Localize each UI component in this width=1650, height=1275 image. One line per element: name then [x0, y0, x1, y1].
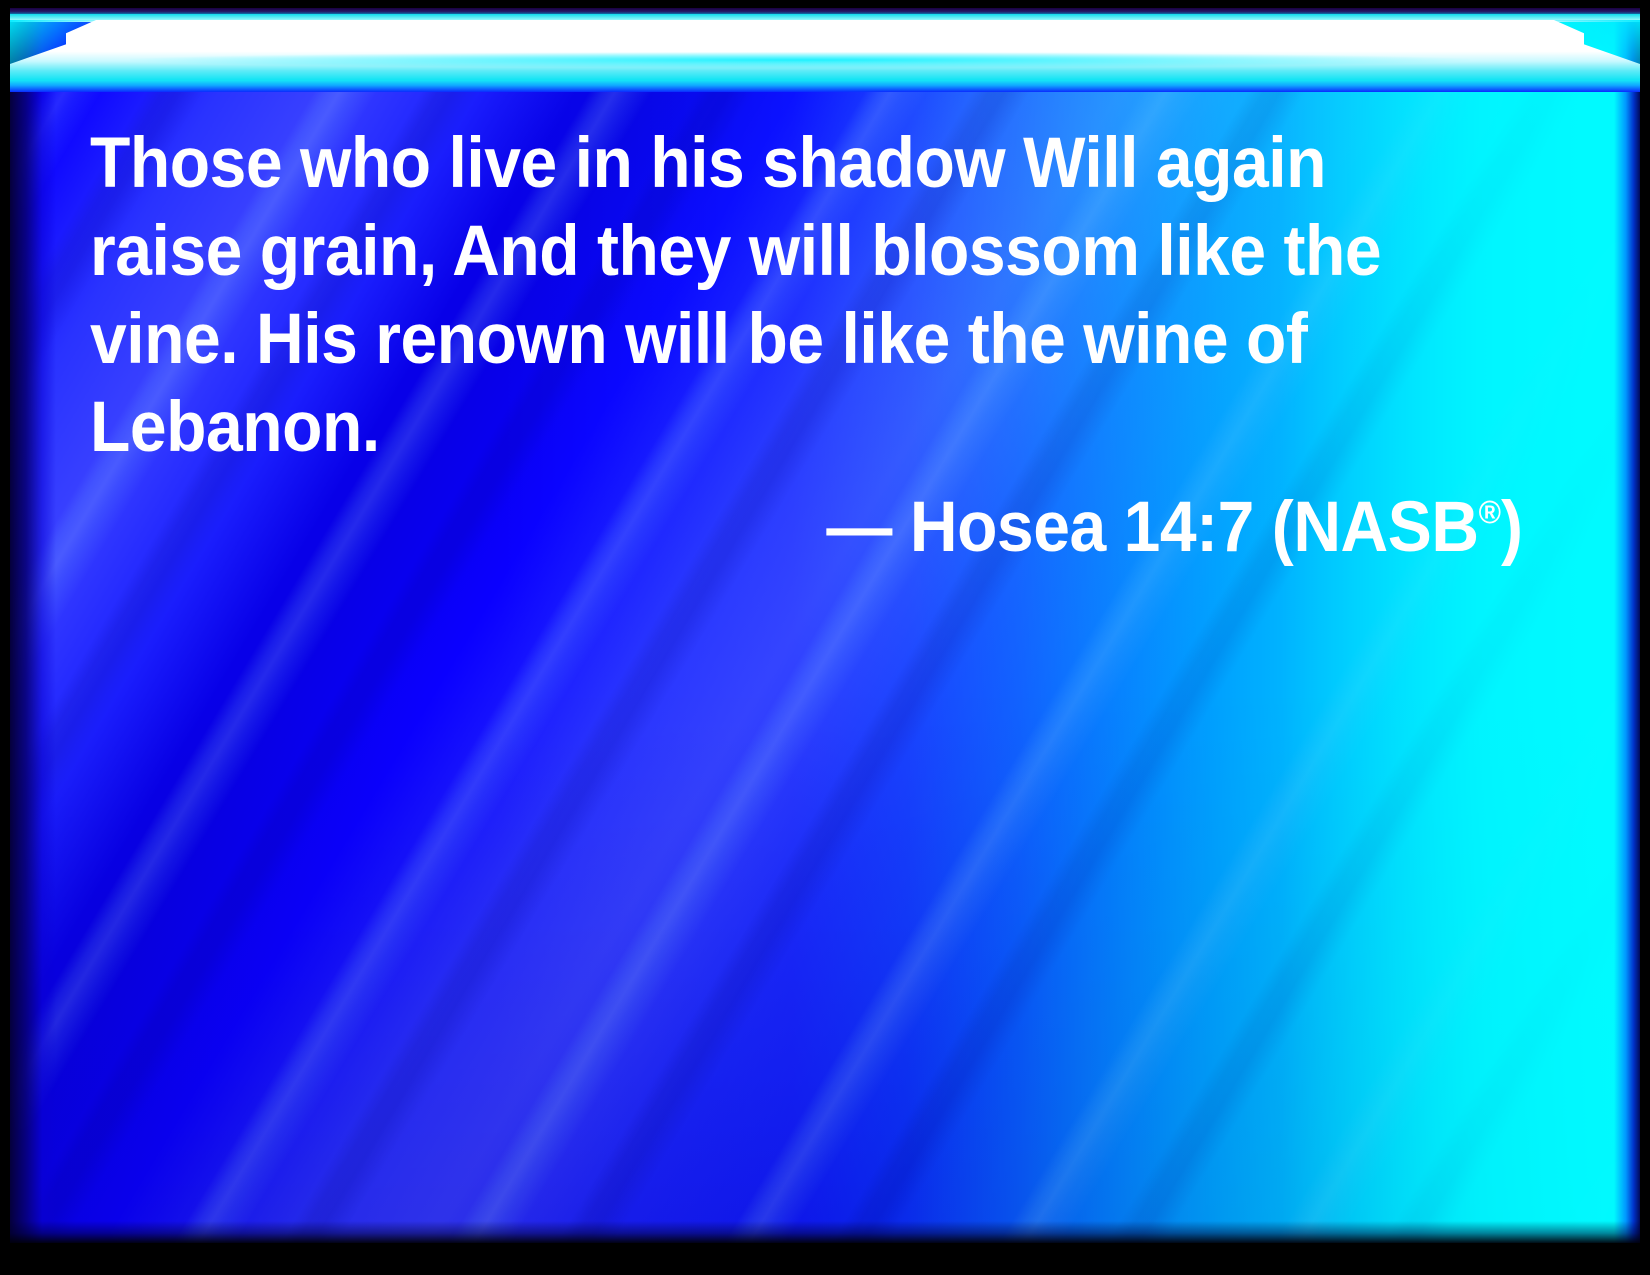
attribution-block: — Hosea 14:7 (NASB®)	[90, 468, 1522, 572]
slide-canvas: Those who live in his shadow Will again …	[0, 0, 1650, 1275]
attribution-translation: NASB	[1293, 488, 1478, 567]
attribution-close-paren: )	[1500, 488, 1522, 567]
verse-text: Those who live in his shadow Will again …	[90, 120, 1439, 472]
top-band-cyan-haze	[130, 52, 1470, 68]
registered-trademark-icon: ®	[1478, 493, 1500, 530]
attribution-line: — Hosea 14:7 (NASB®)	[826, 468, 1522, 572]
verse-text-block: Those who live in his shadow Will again …	[90, 120, 1540, 472]
attribution-reference: 14:7	[1123, 488, 1253, 567]
attribution-book: Hosea	[909, 488, 1105, 567]
attribution-open-paren: (	[1271, 488, 1293, 567]
background-left-seam	[10, 8, 56, 1243]
attribution-dash: —	[826, 488, 892, 567]
top-band-bottom-edge	[10, 80, 1640, 92]
top-glow-band	[10, 8, 1640, 92]
slide-background: Those who live in his shadow Will again …	[10, 8, 1640, 1243]
background-right-seam	[1614, 8, 1640, 1243]
background-bottom-seam	[10, 1221, 1640, 1243]
